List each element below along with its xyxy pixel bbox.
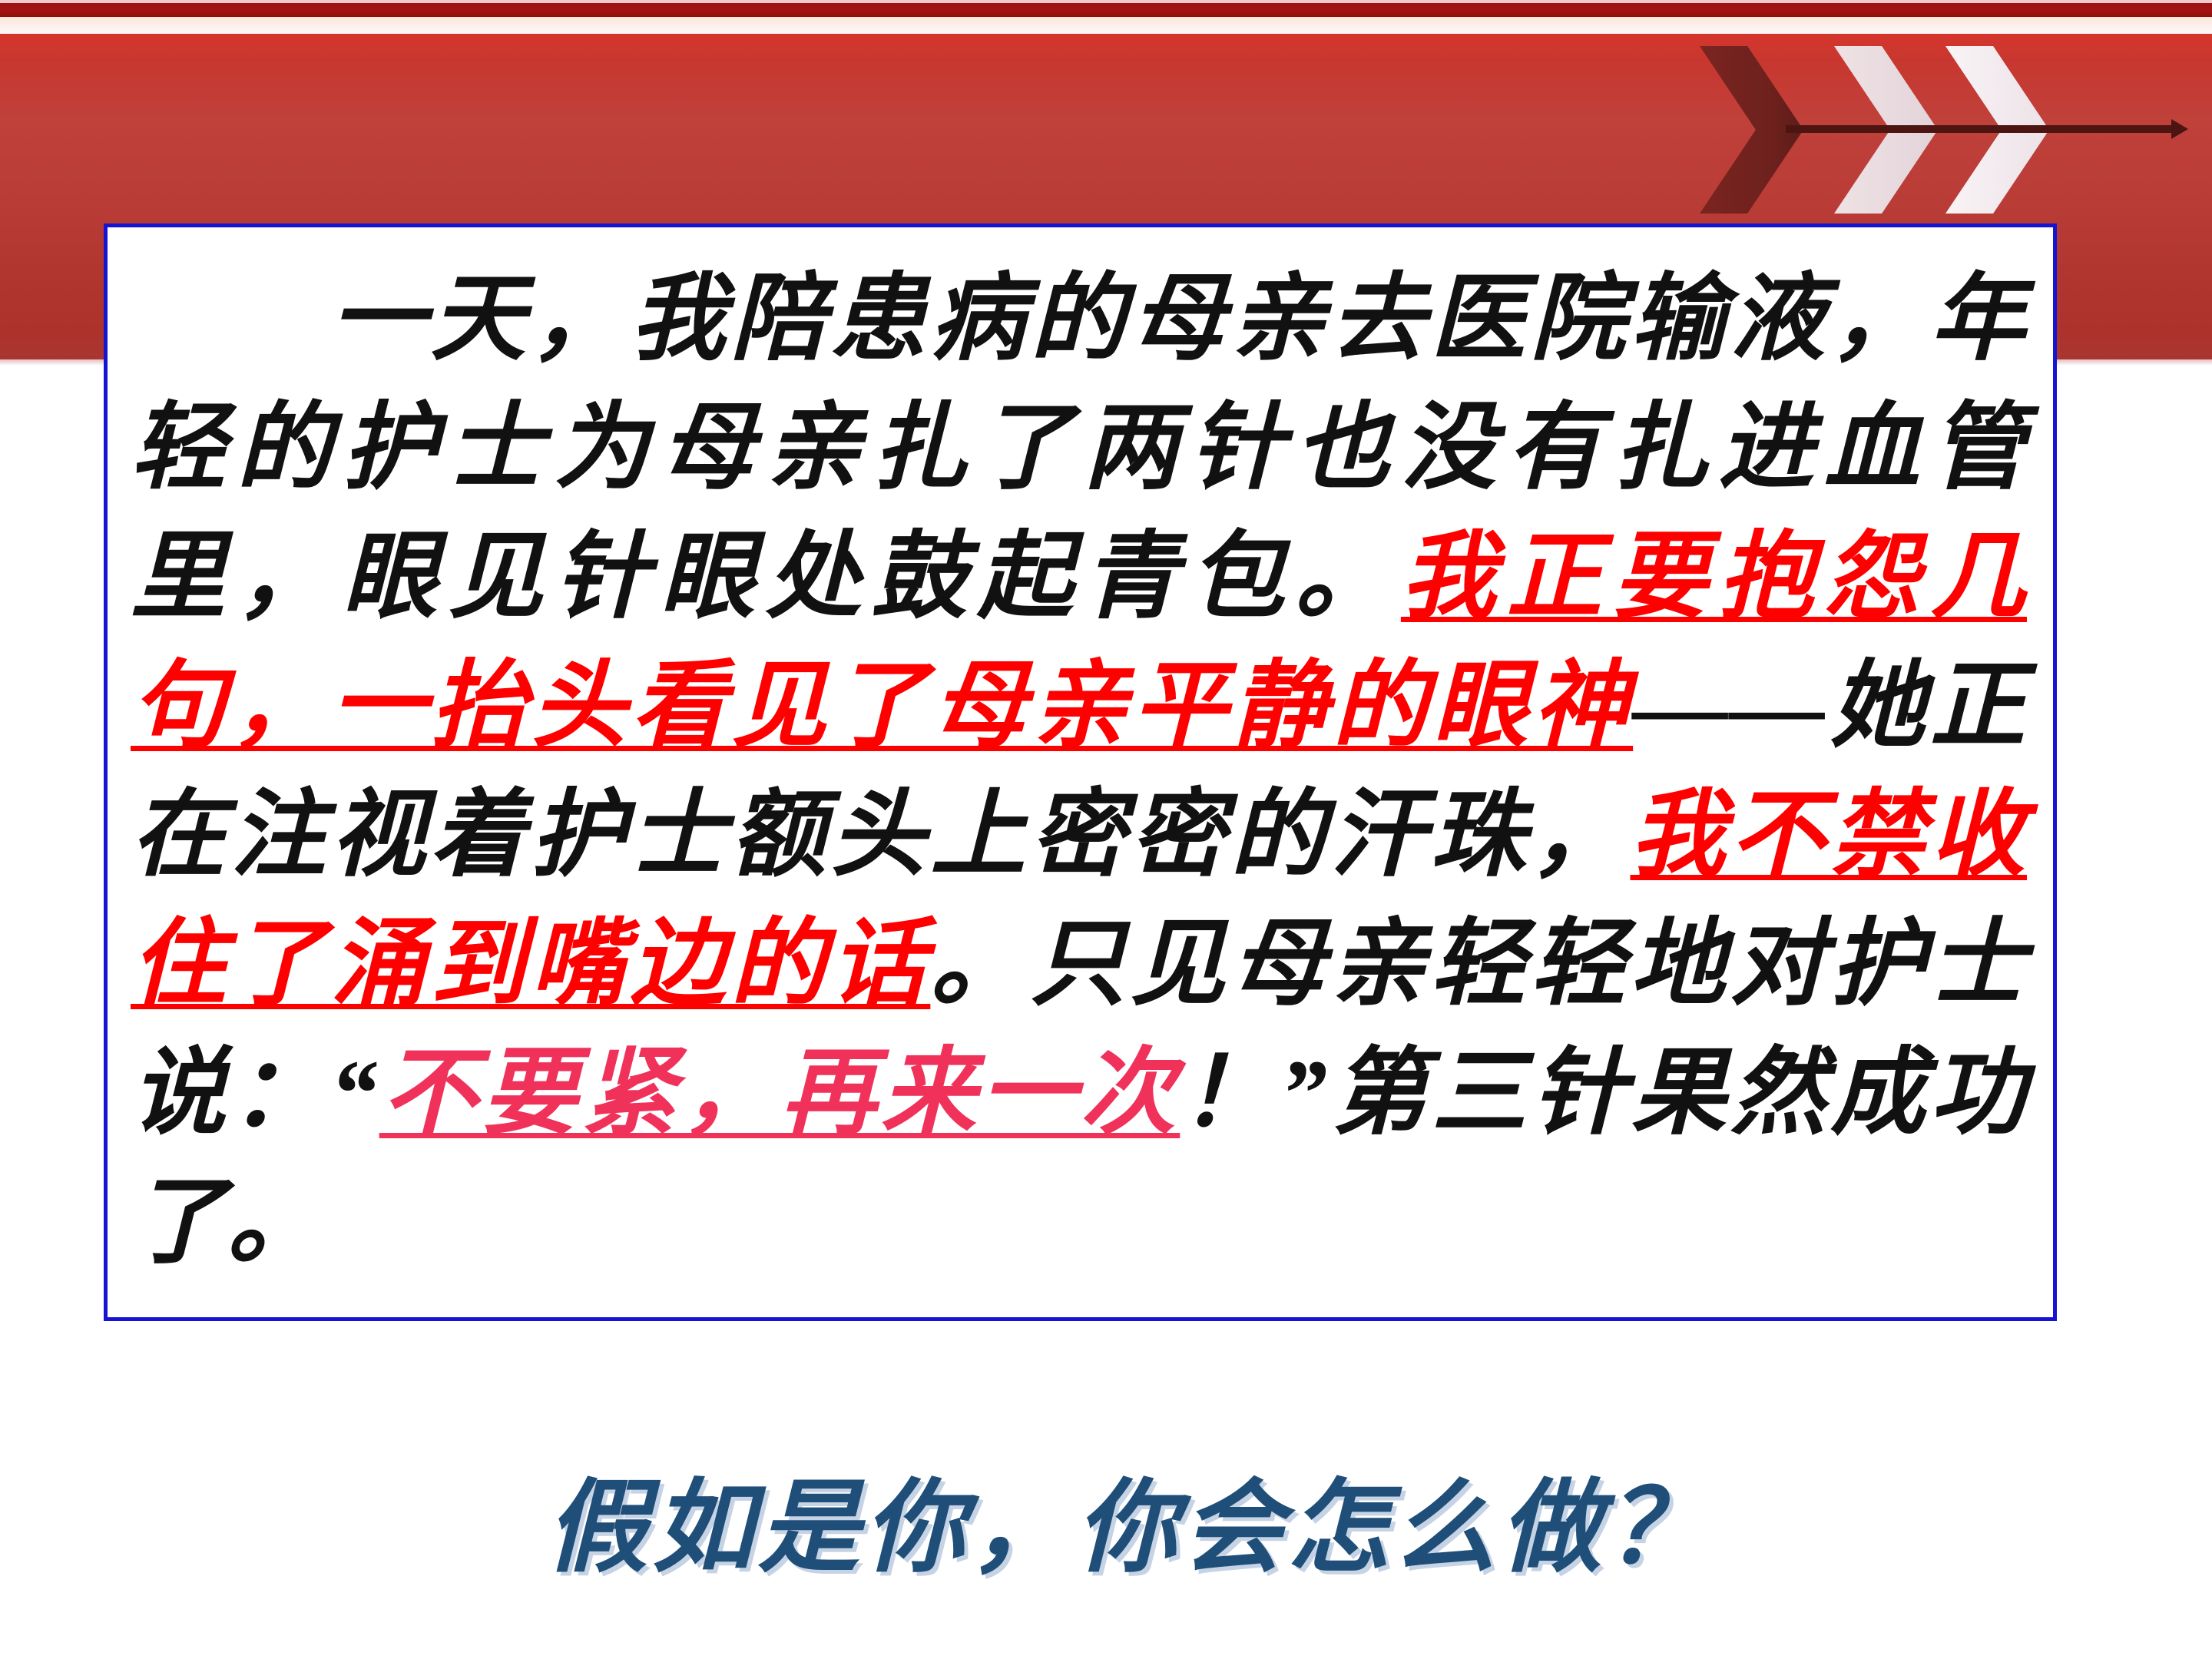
arrow-head-icon [2171, 119, 2188, 139]
story-text-box: 一天，我陪患病的母亲去医院输液，年轻的护士为母亲扎了两针也没有扎进血管里，眼见针… [104, 224, 2057, 1321]
triple-chevron-arrow-icon [1686, 46, 2193, 230]
arrow-shaft-icon [1786, 125, 2177, 133]
banner-dark-stripe [0, 3, 2212, 17]
question-text: 假如是你，你会怎么做？ [500, 1463, 1712, 1594]
story-paragraph: 一天，我陪患病的母亲去医院输液，年轻的护士为母亲扎了两针也没有扎进血管里，眼见针… [131, 255, 2027, 1287]
story-segment-6-highlight-pink: 不要紧，再来一次 [379, 1041, 1181, 1146]
question-line: 假如是你，你会怎么做？ [0, 1463, 2212, 1594]
banner-cream-stripe [0, 17, 2212, 34]
